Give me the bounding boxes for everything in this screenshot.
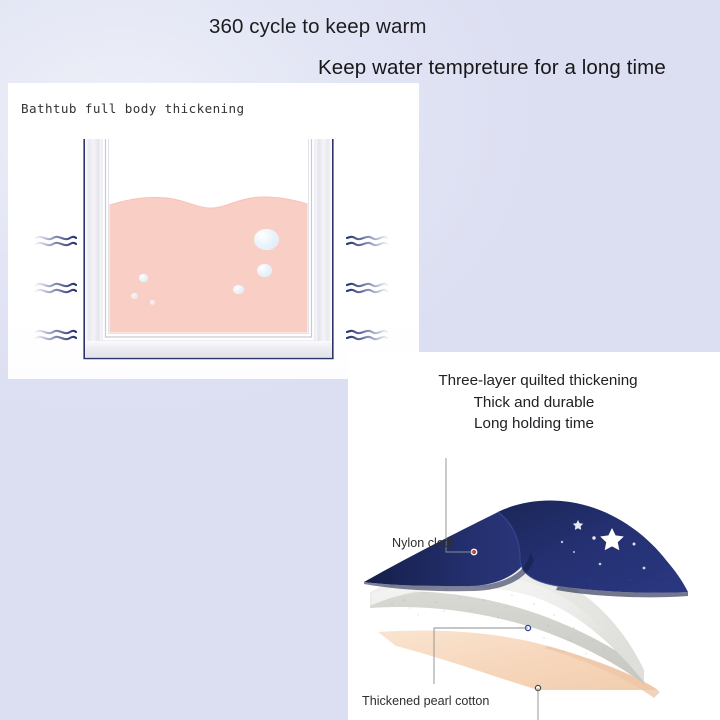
layers-heading-line-2: Thick and durable — [348, 392, 720, 414]
bathtub-water — [81, 139, 336, 365]
water-bubble — [257, 264, 272, 277]
layers-heading-line-1: Three-layer quilted thickening — [348, 370, 720, 392]
callout-nylon-cloth: Nylon cloth — [392, 536, 454, 550]
layers-panel: Three-layer quilted thickening Thick and… — [348, 352, 720, 720]
water-bubble — [139, 274, 148, 282]
heat-wave-icon — [35, 233, 77, 250]
three-layer-diagram: Nylon cloth Thickened pearl cotton Water… — [348, 432, 720, 720]
water-bubble — [131, 293, 138, 299]
three-layer-svg — [348, 432, 720, 720]
water-bubble — [150, 300, 155, 305]
heat-waves-left — [35, 233, 77, 345]
heat-wave-icon — [346, 327, 388, 344]
heat-wave-icon — [35, 327, 77, 344]
heat-wave-icon — [346, 233, 388, 250]
bathtub-illustration — [81, 139, 336, 365]
water-bubble — [233, 285, 244, 294]
bathtub-panel-title: Bathtub full body thickening — [21, 101, 245, 116]
heat-waves-right — [346, 233, 388, 345]
layers-panel-heading: Three-layer quilted thickening Thick and… — [348, 370, 720, 435]
headline-secondary: Keep water tempreture for a long time — [318, 56, 666, 80]
callout-pearl-cotton: Thickened pearl cotton — [362, 694, 489, 708]
heat-wave-icon — [35, 280, 77, 297]
headline-primary: 360 cycle to keep warm — [209, 15, 427, 39]
water-bubble — [254, 229, 279, 250]
bathtub-panel: Bathtub full body thickening — [8, 83, 419, 379]
heat-wave-icon — [346, 280, 388, 297]
product-infographic: 360 cycle to keep warm Keep water tempre… — [0, 0, 720, 720]
headline-block: 360 cycle to keep warm Keep water tempre… — [0, 0, 720, 92]
